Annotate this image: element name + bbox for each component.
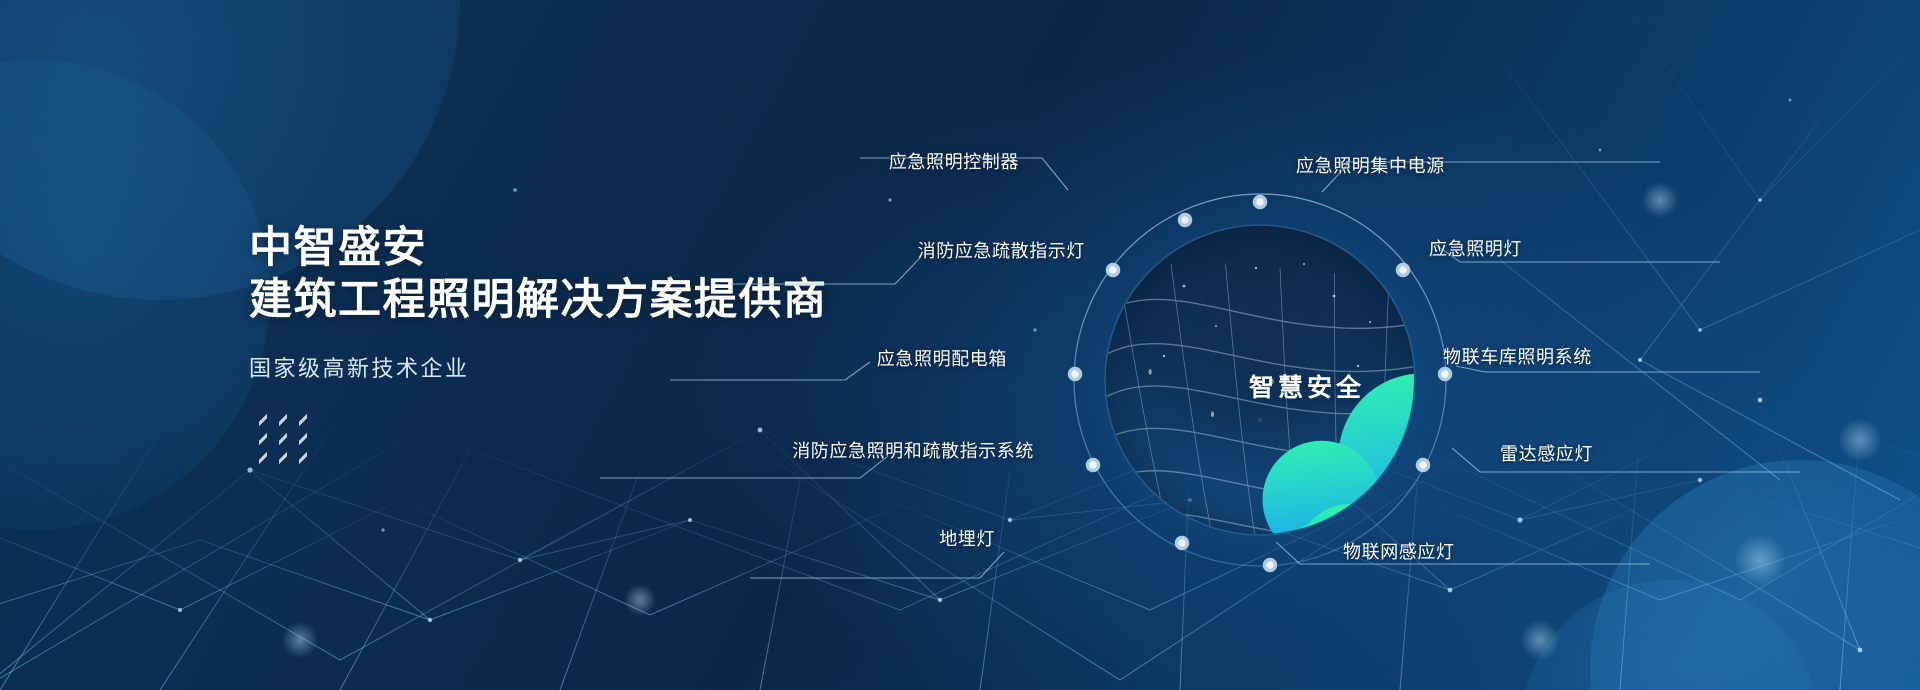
page-title-line-1: 中智盛安 <box>249 222 828 274</box>
callout-iot-garage-lighting-system[interactable]: 物联车库照明系统 <box>1443 343 1592 369</box>
slash-mark <box>299 414 307 426</box>
background-circle-bottom-right-large <box>1590 460 1920 690</box>
hub-center-label: 智慧安全 <box>1212 368 1402 404</box>
slash-mark <box>299 433 307 445</box>
slash-mark <box>279 433 287 445</box>
page-subtitle: 国家级高新技术企业 <box>249 351 828 383</box>
ring-node[interactable] <box>1088 460 1099 471</box>
cloud-shape: 智慧安全 <box>1212 306 1402 456</box>
callout-emergency-lighting-central-power[interactable]: 应急照明集中电源 <box>1296 152 1445 178</box>
background-circle-bottom-right-small <box>1520 580 1820 690</box>
background-circle-left-small <box>0 60 270 530</box>
ring-node[interactable] <box>1177 538 1188 549</box>
ring-node[interactable] <box>1070 369 1081 380</box>
slash-mark <box>259 414 267 426</box>
callout-emergency-light[interactable]: 应急照明灯 <box>1429 235 1522 261</box>
slash-mark <box>299 452 307 464</box>
callout-emergency-lighting-distribution-box[interactable]: 应急照明配电箱 <box>877 345 1007 371</box>
slash-mark <box>279 452 287 464</box>
page-title-line-2: 建筑工程照明解决方案提供商 <box>249 274 828 326</box>
ring-node[interactable] <box>1440 369 1451 380</box>
slash-mark <box>259 452 267 464</box>
slash-mark <box>259 433 267 445</box>
solution-hub-diagram: 智慧安全 <box>1060 180 1460 580</box>
hub-inner-sphere: 智慧安全 <box>1106 226 1414 534</box>
brand-copy: 中智盛安 建筑工程照明解决方案提供商 国家级高新技术企业 <box>249 222 828 383</box>
ring-node[interactable] <box>1255 197 1266 208</box>
ring-node[interactable] <box>1180 215 1191 226</box>
slash-mark <box>279 414 287 426</box>
callout-radar-sensor-light[interactable]: 雷达感应灯 <box>1500 440 1593 466</box>
ring-node[interactable] <box>1265 560 1276 571</box>
callout-emergency-lighting-controller[interactable]: 应急照明控制器 <box>889 148 1019 174</box>
callout-fire-emergency-evacuation-sign[interactable]: 消防应急疏散指示灯 <box>918 237 1085 263</box>
callout-buried-ground-light[interactable]: 地埋灯 <box>939 525 995 551</box>
ring-node[interactable] <box>1418 460 1429 471</box>
callout-iot-sensor-light[interactable]: 物联网感应灯 <box>1343 538 1455 564</box>
callout-fire-emergency-lighting-evacuation-system[interactable]: 消防应急照明和疏散指示系统 <box>792 437 1034 463</box>
decorative-slash-grid <box>259 414 319 471</box>
hero-banner: 中智盛安 建筑工程照明解决方案提供商 国家级高新技术企业 <box>0 0 1920 690</box>
